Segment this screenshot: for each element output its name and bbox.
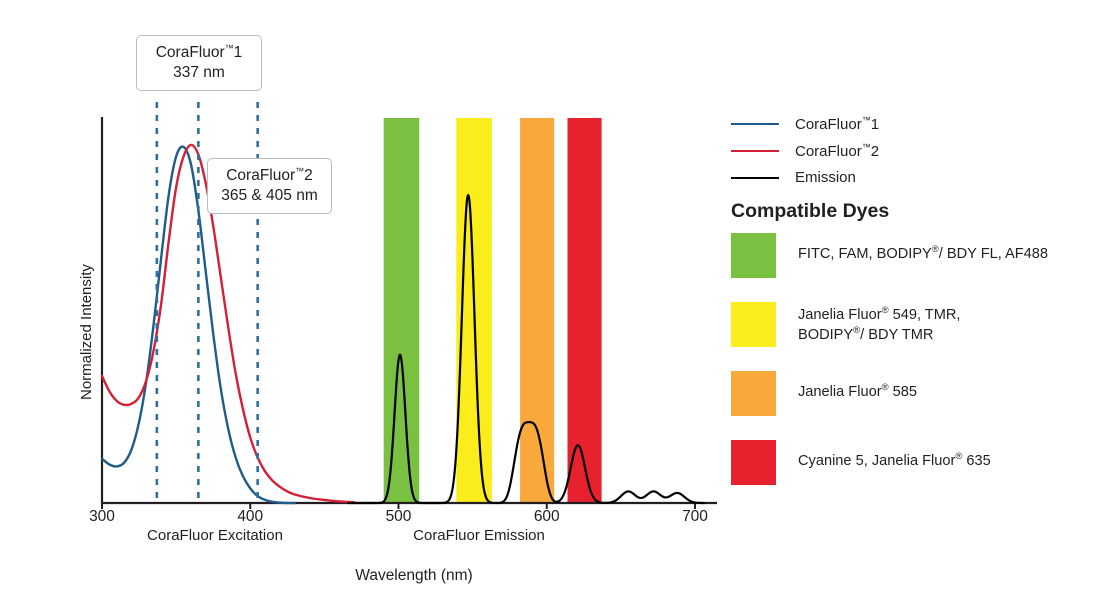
x-tick-label-600: 600 [517,508,577,526]
dye-color-swatch [731,440,776,485]
dye-color-swatch [731,371,776,416]
dye-label: Janelia Fluor® 585 [798,371,917,402]
callout-line1: CoraFluor™1 [156,44,243,61]
orange-band [520,118,554,503]
legend-label: Emission [795,169,856,186]
legend-row[interactable]: CoraFluor™2 [731,137,879,164]
dye-color-swatch [731,302,776,347]
legend-line-swatch [731,123,779,125]
green-band [384,118,420,503]
legend-label: CoraFluor™1 [795,115,879,133]
dye-row[interactable]: Janelia Fluor® 549, TMR,BODIPY®/ BDY TMR [731,302,1091,347]
dye-row[interactable]: Cyanine 5, Janelia Fluor® 635 [731,440,1091,485]
x-axis-title: Wavelength (nm) [264,567,564,585]
legend-label: CoraFluor™2 [795,142,879,160]
x-tick-label-700: 700 [665,508,725,526]
compatible-dyes-list: FITC, FAM, BODIPY®/ BDY FL, AF488Janelia… [731,233,1091,509]
legend-row[interactable]: CoraFluor™1 [731,110,879,137]
callout-line1: CoraFluor™2 [226,167,313,184]
emission-region-label: CoraFluor Emission [409,527,549,544]
spectra-figure: CoraFluor™1 337 nm CoraFluor™2 365 & 405… [0,0,1110,612]
callout-corafluor1: CoraFluor™1 337 nm [136,35,262,91]
legend-line-swatch [731,150,779,152]
excitation-region-label: CoraFluor Excitation [143,527,287,544]
dye-row[interactable]: FITC, FAM, BODIPY®/ BDY FL, AF488 [731,233,1091,278]
dye-label: FITC, FAM, BODIPY®/ BDY FL, AF488 [798,233,1048,264]
red-band [568,118,602,503]
series-legend: CoraFluor™1CoraFluor™2Emission [731,110,879,191]
callout-line2: 337 nm [147,63,251,83]
legend-row[interactable]: Emission [731,164,879,191]
x-tick-label-400: 400 [220,508,280,526]
dye-row[interactable]: Janelia Fluor® 585 [731,371,1091,416]
x-tick-label-500: 500 [369,508,429,526]
dye-color-swatch [731,233,776,278]
dye-label: Cyanine 5, Janelia Fluor® 635 [798,440,991,471]
callout-line2: 365 & 405 nm [218,186,321,206]
x-tick-label-300: 300 [72,508,132,526]
legend-line-swatch [731,177,779,179]
y-axis-label: Normalized Intensity [78,264,95,400]
compatible-dyes-title: Compatible Dyes [731,200,889,223]
dye-label: Janelia Fluor® 549, TMR,BODIPY®/ BDY TMR [798,302,960,346]
callout-corafluor2: CoraFluor™2 365 & 405 nm [207,158,332,214]
